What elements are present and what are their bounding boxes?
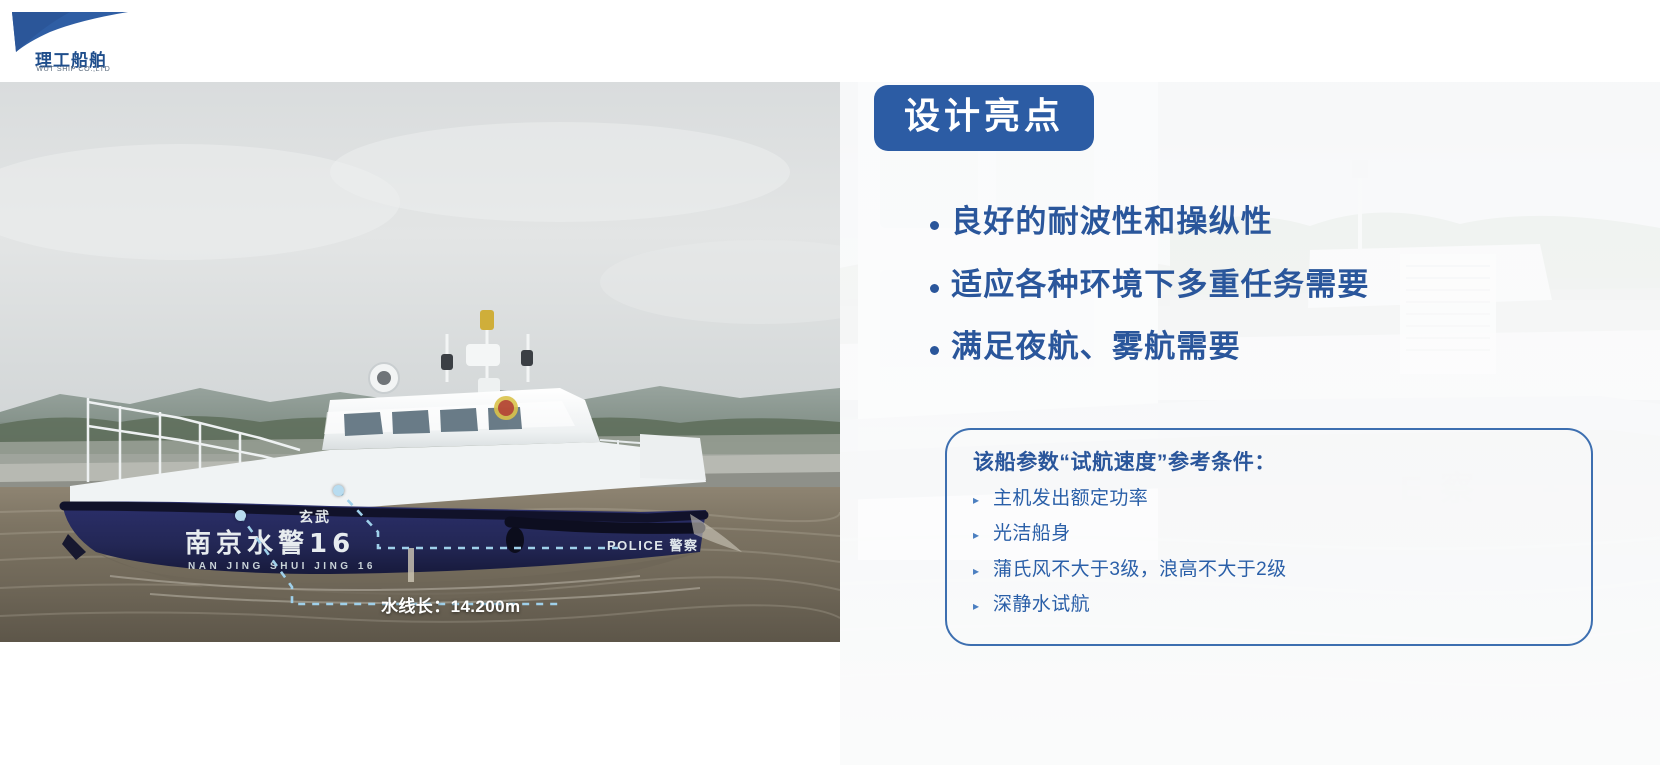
note-item-label: 光洁船身 — [993, 519, 1071, 548]
page-title: 设计亮点 — [874, 85, 1094, 151]
note-list-item: ▸ 深静水试航 — [973, 590, 1565, 619]
boat-photo: 南京水警16 NAN JING SHUI JING 16 玄武 POLICE 警… — [0, 82, 840, 642]
highlight-label: 适应各种环境下多重任务需要 — [951, 268, 1370, 303]
highlight-label: 良好的耐波性和操纵性 — [951, 205, 1273, 240]
bullet-dot-icon — [930, 284, 939, 293]
waterline-length-marker — [333, 485, 344, 496]
highlights-panel: E 察 1 设计亮点 良好的耐波性和操纵性 适应各种环境 — [840, 0, 1660, 765]
callout-leader-lines — [0, 82, 840, 642]
note-item-label: 蒲氏风不大于3级，浪高不大于2级 — [993, 555, 1287, 584]
slide-root: 理工船舶 WUT SHIP CO.,LTD — [0, 0, 1660, 765]
callout-waterline-length: 水线长：14.200m — [381, 592, 521, 617]
note-item-label: 主机发出额定功率 — [993, 484, 1148, 513]
note-list-item: ▸ 蒲氏风不大于3级，浪高不大于2级 — [973, 555, 1565, 584]
arrow-bullet-icon: ▸ — [973, 562, 993, 581]
highlight-item: 满足夜航、雾航需要 — [930, 330, 1630, 365]
bullet-dot-icon — [930, 221, 939, 230]
highlight-item: 良好的耐波性和操纵性 — [930, 205, 1630, 240]
arrow-bullet-icon: ▸ — [973, 597, 993, 616]
fuel-load-marker — [235, 510, 246, 521]
arrow-bullet-icon: ▸ — [973, 526, 993, 545]
note-item-label: 深静水试航 — [993, 590, 1090, 619]
bottom-white-strip — [0, 642, 840, 765]
logo-name-en: WUT SHIP CO.,LTD — [36, 66, 110, 73]
brand-bar: 理工船舶 WUT SHIP CO.,LTD — [0, 0, 1660, 82]
note-title: 该船参数“试航速度”参考条件： — [973, 446, 1565, 476]
trial-speed-conditions-box: 该船参数“试航速度”参考条件： ▸ 主机发出额定功率 ▸ 光洁船身 ▸ 蒲氏风不… — [945, 428, 1593, 646]
arrow-bullet-icon: ▸ — [973, 491, 993, 510]
highlight-item: 适应各种环境下多重任务需要 — [930, 268, 1630, 303]
note-list-item: ▸ 光洁船身 — [973, 519, 1565, 548]
bullet-dot-icon — [930, 346, 939, 355]
highlight-label: 满足夜航、雾航需要 — [951, 330, 1241, 365]
company-logo[interactable]: 理工船舶 WUT SHIP CO.,LTD — [4, 2, 136, 80]
note-list-item: ▸ 主机发出额定功率 — [973, 484, 1565, 513]
highlight-list: 良好的耐波性和操纵性 适应各种环境下多重任务需要 满足夜航、雾航需要 — [930, 205, 1630, 393]
